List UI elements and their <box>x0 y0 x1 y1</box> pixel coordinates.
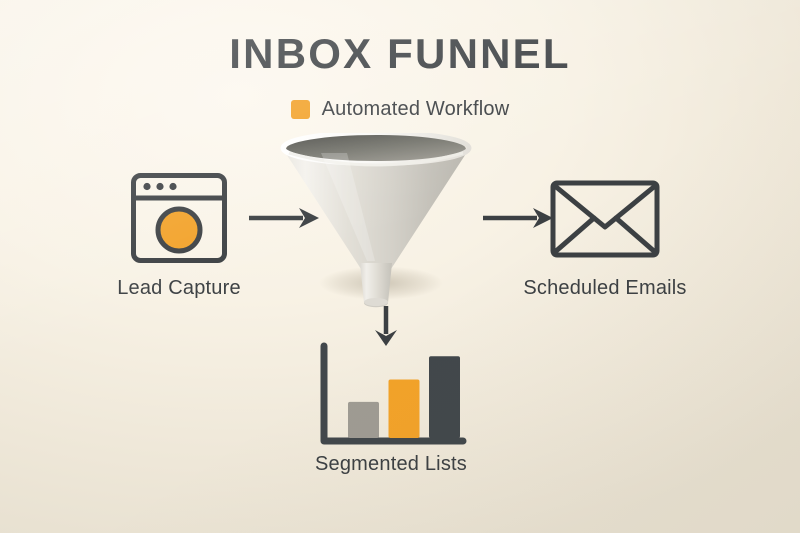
legend-swatch-icon <box>291 100 310 119</box>
browser-window-icon <box>130 172 228 264</box>
legend: Automated Workflow <box>0 99 800 119</box>
bar-chart-icon <box>315 342 467 452</box>
bar-segment-1 <box>348 402 379 438</box>
arrow-funnel-to-emails-icon <box>481 205 555 231</box>
scheduled-emails-label: Scheduled Emails <box>505 277 705 300</box>
bar-segment-3 <box>429 356 460 438</box>
arrow-lead-to-funnel-icon <box>247 205 321 231</box>
lead-capture-label: Lead Capture <box>89 277 269 300</box>
page-title: INBOX FUNNEL <box>0 33 800 75</box>
legend-label: Automated Workflow <box>322 99 510 119</box>
envelope-icon <box>550 180 660 258</box>
segmented-lists-label: Segmented Lists <box>291 453 491 476</box>
infographic-canvas: INBOX FUNNEL Automated Workflow Lead Cap… <box>0 0 800 533</box>
bar-segment-2 <box>389 380 420 438</box>
